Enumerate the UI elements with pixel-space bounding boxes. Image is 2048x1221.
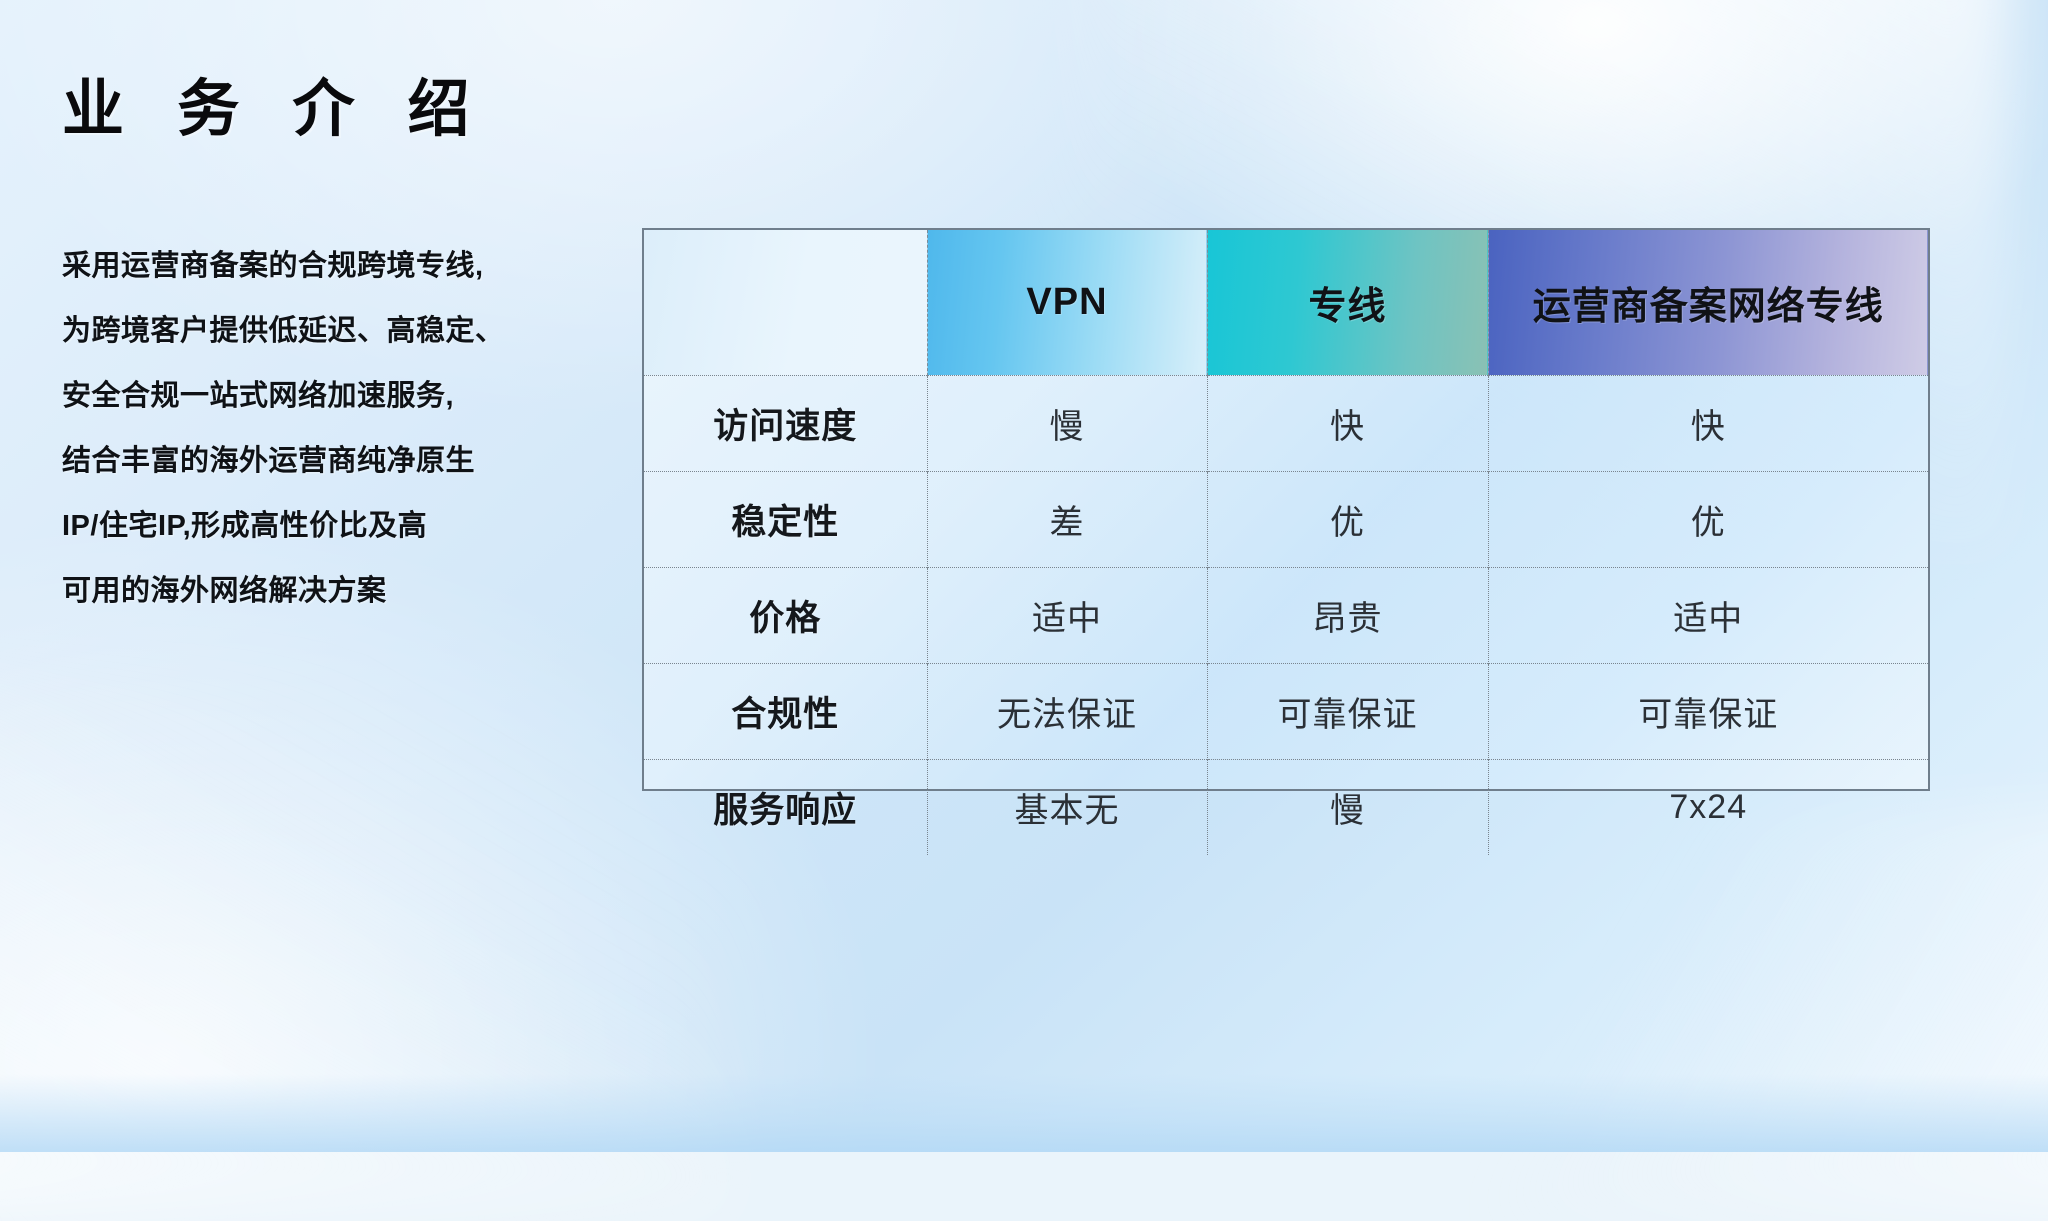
cell-value: 7x24 [1488, 759, 1928, 855]
cell-value: 快 [1488, 375, 1928, 471]
cell-value: 基本无 [927, 759, 1207, 855]
row-label: 访问速度 [644, 375, 927, 471]
intro-paragraph: 采用运营商备案的合规跨境专线, 为跨境客户提供低延迟、高稳定、 安全合规一站式网… [62, 234, 642, 624]
cell-value: 优 [1488, 471, 1928, 567]
slide-background: 业 务 介 绍 采用运营商备案的合规跨境专线, 为跨境客户提供低延迟、高稳定、 … [0, 0, 2048, 1152]
cell-value: 昂贵 [1207, 567, 1488, 663]
header-cell-blank [644, 230, 927, 375]
background-bottom-band [0, 1074, 2048, 1152]
header-cell-licensed-line: 运营商备案网络专线 [1488, 230, 1928, 375]
cell-value: 无法保证 [927, 663, 1207, 759]
background-sheen-bottom-right [1434, 806, 2048, 1221]
table-row: 合规性 无法保证 可靠保证 可靠保证 [644, 663, 1928, 759]
row-label: 合规性 [644, 663, 927, 759]
paragraph-line: 结合丰富的海外运营商纯净原生 [62, 429, 642, 494]
header-cell-vpn: VPN [927, 230, 1207, 375]
row-label: 价格 [644, 567, 927, 663]
cell-value: 可靠保证 [1207, 663, 1488, 759]
cell-value: 慢 [1207, 759, 1488, 855]
table-header: VPN 专线 运营商备案网络专线 [644, 230, 1928, 375]
header-label: VPN [1026, 281, 1107, 323]
table-row: 稳定性 差 优 优 [644, 471, 1928, 567]
paragraph-line: 可用的海外网络解决方案 [62, 559, 642, 624]
paragraph-line: 采用运营商备案的合规跨境专线, [62, 234, 642, 299]
table-header-row: VPN 专线 运营商备案网络专线 [644, 230, 1928, 375]
table-row: 访问速度 慢 快 快 [644, 375, 1928, 471]
table-body: 访问速度 慢 快 快 稳定性 差 优 优 价格 适中 昂贵 适中 [644, 375, 1928, 855]
background-sheen-bottom-left [0, 668, 737, 1221]
cell-value: 适中 [1488, 567, 1928, 663]
header-label: 专线 [1308, 286, 1386, 328]
page-title: 业 务 介 绍 [62, 58, 488, 148]
table-row: 价格 适中 昂贵 适中 [644, 567, 1928, 663]
cell-value: 慢 [927, 375, 1207, 471]
header-cell-dedicated-line: 专线 [1207, 230, 1488, 375]
header-label: 运营商备案网络专线 [1533, 286, 1884, 328]
cell-value: 可靠保证 [1488, 663, 1928, 759]
cell-value: 快 [1207, 375, 1488, 471]
comparison-table: VPN 专线 运营商备案网络专线 访问速度 慢 快 快 [642, 228, 1930, 791]
table-row: 服务响应 基本无 慢 7x24 [644, 759, 1928, 855]
cell-value: 优 [1207, 471, 1488, 567]
cell-value: 差 [927, 471, 1207, 567]
row-label: 服务响应 [644, 759, 927, 855]
row-label: 稳定性 [644, 471, 927, 567]
paragraph-line: 为跨境客户提供低延迟、高稳定、 [62, 299, 642, 364]
comparison-table-element: VPN 专线 运营商备案网络专线 访问速度 慢 快 快 [644, 230, 1928, 855]
cell-value: 适中 [927, 567, 1207, 663]
paragraph-line: 安全合规一站式网络加速服务, [62, 364, 642, 429]
paragraph-line: IP/住宅IP,形成高性价比及高 [62, 494, 642, 559]
